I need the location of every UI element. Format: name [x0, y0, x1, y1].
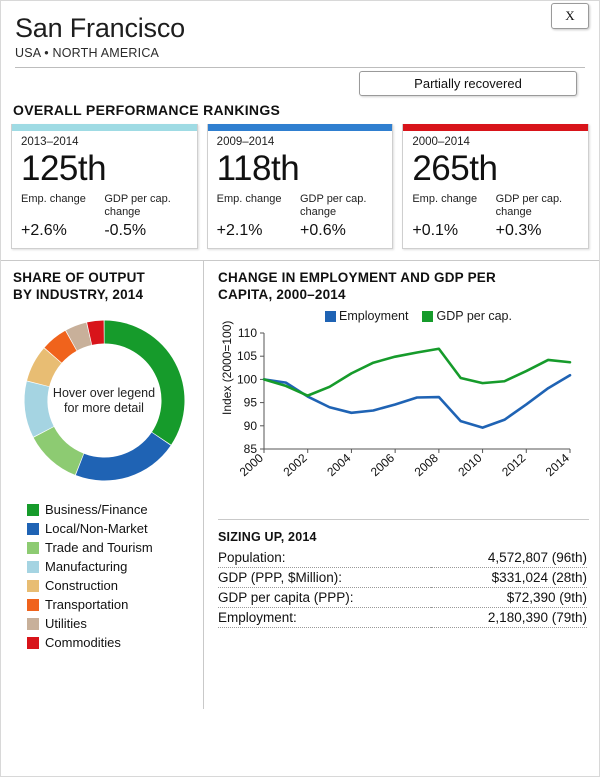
sizing-value: $72,390 (9th)	[431, 588, 587, 608]
ranking-color-bar	[12, 124, 197, 131]
table-row: Employment:2,180,390 (79th)	[218, 608, 587, 628]
city-profile-panel: X San Francisco USA • NORTH AMERICA Part…	[0, 0, 600, 777]
ranking-period: 2013–2014	[21, 136, 188, 148]
x-tick-label: 2004	[324, 451, 353, 479]
ranking-value: 125th	[21, 148, 188, 190]
legend-item-7[interactable]: Commodities	[27, 633, 195, 652]
metric-value: +2.6%	[21, 222, 104, 240]
metric-emp-change: Emp. change +2.6%	[21, 193, 104, 240]
region-subtitle: USA • NORTH AMERICA	[15, 46, 585, 60]
industry-panel: SHARE OF OUTPUT BY INDUSTRY, 2014 Hover …	[1, 261, 204, 709]
header: San Francisco USA • NORTH AMERICA Partia…	[1, 1, 599, 98]
chart-title-line1: CHANGE IN EMPLOYMENT AND GDP PER	[218, 269, 589, 286]
ranking-card[interactable]: 2013–2014 125th Emp. change +2.6% GDP pe…	[11, 124, 198, 249]
donut-segment-2[interactable]	[33, 427, 83, 475]
donut-center-hint: Hover over legend for more detail	[45, 386, 163, 416]
metric-value: -0.5%	[104, 222, 187, 240]
legend-item-4[interactable]: Construction	[27, 576, 195, 595]
legend-entry-employment[interactable]: Employment	[325, 309, 408, 323]
legend-swatch-icon	[27, 599, 39, 611]
sizing-value: 4,572,807 (96th)	[431, 548, 587, 568]
donut-hint-line1: Hover over legend	[45, 386, 163, 401]
table-row: Population:4,572,807 (96th)	[218, 548, 587, 568]
status-row: Partially recovered	[15, 68, 585, 98]
sizing-value: 2,180,390 (79th)	[431, 608, 587, 628]
sizing-up-table: Population:4,572,807 (96th)GDP (PPP, $Mi…	[218, 548, 587, 628]
x-tick-label: 2012	[499, 451, 528, 479]
chart-legend: Employment GDP per cap.	[325, 309, 512, 323]
metric-value: +0.3%	[496, 222, 579, 240]
industry-title-line1: SHARE OF OUTPUT	[13, 269, 195, 286]
legend-item-6[interactable]: Utilities	[27, 614, 195, 633]
legend-swatch-icon	[27, 561, 39, 573]
x-tick-label: 2000	[237, 451, 266, 479]
y-tick-label: 100	[237, 372, 257, 386]
donut-chart[interactable]: Hover over legend for more detail	[17, 313, 192, 488]
sizing-label: GDP per capita (PPP):	[218, 588, 431, 608]
legend-item-label: Trade and Tourism	[45, 540, 153, 555]
metric-emp-change: Emp. change +0.1%	[412, 193, 495, 240]
metric-gdp-change: GDP per cap. change +0.6%	[300, 193, 383, 240]
ranking-value: 265th	[412, 148, 579, 190]
ranking-color-bar	[208, 124, 393, 131]
status-badge[interactable]: Partially recovered	[359, 71, 577, 96]
ranking-color-bar	[403, 124, 588, 131]
series-line-0[interactable]	[264, 375, 570, 427]
line-chart[interactable]: Employment GDP per cap. Index (2000=100)…	[218, 307, 589, 517]
legend-item-label: Utilities	[45, 616, 87, 631]
legend-item-label: Local/Non-Market	[45, 521, 148, 536]
legend-item-label: Manufacturing	[45, 559, 127, 574]
x-tick-label: 2010	[455, 451, 484, 479]
legend-swatch-icon	[27, 637, 39, 649]
metric-gdp-change: GDP per cap. change +0.3%	[496, 193, 579, 240]
right-column: CHANGE IN EMPLOYMENT AND GDP PER CAPITA,…	[204, 261, 599, 709]
metric-label: Emp. change	[21, 193, 104, 219]
ranking-card[interactable]: 2009–2014 118th Emp. change +2.1% GDP pe…	[207, 124, 394, 249]
rankings-row: 2013–2014 125th Emp. change +2.6% GDP pe…	[1, 124, 599, 249]
legend-entry-label: GDP per cap.	[436, 309, 512, 323]
legend-swatch-icon	[422, 311, 433, 322]
legend-item-label: Commodities	[45, 635, 121, 650]
legend-item-5[interactable]: Transportation	[27, 595, 195, 614]
industry-legend: Business/FinanceLocal/Non-MarketTrade an…	[27, 500, 195, 652]
y-tick-label: 110	[238, 326, 257, 340]
page-title: San Francisco	[15, 13, 585, 44]
legend-item-3[interactable]: Manufacturing	[27, 557, 195, 576]
table-row: GDP per capita (PPP):$72,390 (9th)	[218, 588, 587, 608]
legend-item-label: Business/Finance	[45, 502, 148, 517]
legend-entry-label: Employment	[339, 309, 408, 323]
legend-item-label: Construction	[45, 578, 118, 593]
sizing-label: Employment:	[218, 608, 431, 628]
x-tick-label: 2006	[368, 451, 397, 479]
ranking-period: 2000–2014	[412, 136, 579, 148]
chart-title-line2: CAPITA, 2000–2014	[218, 286, 589, 303]
x-tick-label: 2014	[543, 451, 572, 479]
legend-item-1[interactable]: Local/Non-Market	[27, 519, 195, 538]
x-tick-label: 2002	[281, 451, 310, 479]
legend-item-2[interactable]: Trade and Tourism	[27, 538, 195, 557]
ranking-value: 118th	[217, 148, 384, 190]
legend-item-0[interactable]: Business/Finance	[27, 500, 195, 519]
y-axis-label: Index (2000=100)	[220, 321, 234, 415]
legend-swatch-icon	[27, 618, 39, 630]
legend-swatch-icon	[27, 523, 39, 535]
x-tick-label: 2008	[412, 451, 441, 479]
sizing-label: Population:	[218, 548, 431, 568]
ranking-card[interactable]: 2000–2014 265th Emp. change +0.1% GDP pe…	[402, 124, 589, 249]
legend-swatch-icon	[27, 580, 39, 592]
metric-gdp-change: GDP per cap. change -0.5%	[104, 193, 187, 240]
legend-swatch-icon	[27, 542, 39, 554]
line-chart-svg: 8590951001051102000200220042006200820102…	[218, 307, 578, 507]
donut-hint-line2: for more detail	[45, 401, 163, 416]
metric-emp-change: Emp. change +2.1%	[217, 193, 300, 240]
metric-label: GDP per cap. change	[496, 193, 579, 219]
donut-segment-1[interactable]	[75, 433, 170, 481]
metric-label: Emp. change	[217, 193, 300, 219]
legend-item-label: Transportation	[45, 597, 128, 612]
y-tick-label: 95	[244, 396, 258, 410]
metric-value: +0.6%	[300, 222, 383, 240]
metric-label: GDP per cap. change	[104, 193, 187, 219]
metric-label: Emp. change	[412, 193, 495, 219]
industry-title-line2: BY INDUSTRY, 2014	[13, 286, 195, 303]
ranking-period: 2009–2014	[217, 136, 384, 148]
sizing-up-panel: SIZING UP, 2014 Population:4,572,807 (96…	[218, 519, 589, 628]
close-button[interactable]: X	[551, 3, 589, 29]
sizing-label: GDP (PPP, $Million):	[218, 568, 431, 588]
rankings-title: OVERALL PERFORMANCE RANKINGS	[13, 102, 599, 118]
series-line-1[interactable]	[264, 349, 570, 396]
table-row: GDP (PPP, $Million):$331,024 (28th)	[218, 568, 587, 588]
sizing-up-title: SIZING UP, 2014	[218, 530, 587, 544]
donut-segment-0[interactable]	[104, 321, 184, 445]
metric-value: +2.1%	[217, 222, 300, 240]
y-tick-label: 105	[237, 349, 257, 363]
lower-area: SHARE OF OUTPUT BY INDUSTRY, 2014 Hover …	[1, 260, 599, 709]
legend-entry-gdp[interactable]: GDP per cap.	[422, 309, 512, 323]
legend-swatch-icon	[27, 504, 39, 516]
y-tick-label: 90	[244, 419, 258, 433]
metric-value: +0.1%	[412, 222, 495, 240]
metric-label: GDP per cap. change	[300, 193, 383, 219]
legend-swatch-icon	[325, 311, 336, 322]
sizing-value: $331,024 (28th)	[431, 568, 587, 588]
